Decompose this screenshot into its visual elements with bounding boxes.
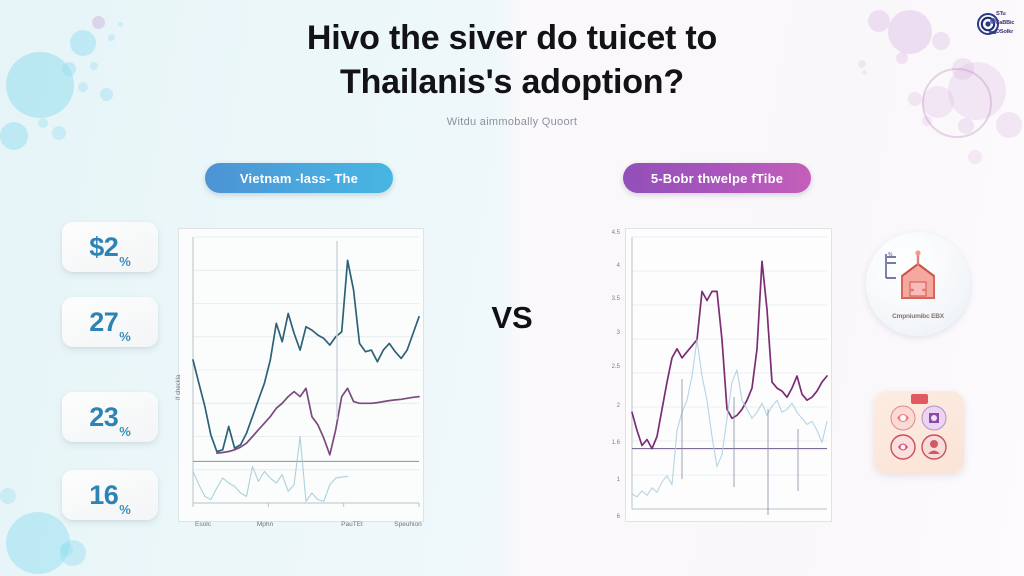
infographic-canvas: STu FaBBic DSolkr Hivo the siver do tuic… [0, 0, 1024, 576]
left-chart-panel[interactable] [178, 228, 424, 522]
left-chart-y-axis-label: If checkla [176, 375, 182, 400]
right-chart-ytick: 4 [604, 263, 620, 269]
svg-text:%: % [888, 252, 893, 258]
stat-card[interactable]: 27 % [62, 297, 158, 347]
left-series-pill[interactable]: Vietnam -lass- The [205, 163, 393, 193]
right-chart-ytick: 6 [604, 514, 620, 520]
logo-text-line2: FaBBic [996, 20, 1014, 26]
logo-text-line3: DSolkr [996, 29, 1013, 35]
left-chart-xtick: Speuhion [381, 521, 435, 528]
left-chart-xtick: PauTEt [325, 521, 379, 528]
page-title-line1: Hivo the siver do tuicet to [212, 16, 812, 60]
stat-unit: % [119, 254, 131, 269]
brand-logo[interactable]: STu FaBBic DSolkr [976, 8, 1020, 42]
right-series-pill[interactable]: 5-Bobr thwelpe fTibe [623, 163, 811, 193]
house-chart-icon: % [866, 232, 970, 336]
right-series-pill-label: 5-Bobr thwelpe fTibe [651, 171, 783, 186]
right-chart-ytick: 2 [604, 403, 620, 409]
page-title-line2: Thailanis's adoption? [212, 60, 812, 104]
right-chart-ytick: 1.6 [604, 440, 620, 446]
left-chart-svg [179, 229, 423, 521]
icon-grid-card[interactable] [874, 391, 964, 473]
stat-unit: % [119, 329, 131, 344]
stat-unit: % [119, 502, 131, 517]
stat-card[interactable]: $2 % [62, 222, 158, 272]
left-series-pill-label: Vietnam -lass- The [240, 171, 358, 186]
stat-card[interactable]: 16 % [62, 470, 158, 520]
left-chart-xtick: Mphn [238, 521, 292, 528]
metric-badge-caption: Cmpniumibc EBX [866, 313, 970, 320]
stat-card[interactable]: 23 % [62, 392, 158, 442]
stat-unit: % [119, 424, 131, 439]
right-chart-ytick: 4.5 [604, 230, 620, 236]
vs-divider-label: VS [478, 300, 546, 336]
logo-text-line1: STu [996, 11, 1006, 17]
four-icons-grid-icon [874, 391, 964, 473]
right-chart-svg [626, 229, 831, 521]
stat-value: 16 [89, 482, 118, 509]
page-subtitle: Witdu aimmobally Quoort [312, 116, 712, 128]
stat-value: $2 [89, 234, 118, 261]
page-title: Hivo the siver do tuicet to Thailanis's … [212, 16, 812, 104]
right-chart-panel[interactable] [625, 228, 832, 522]
stat-value: 23 [89, 404, 118, 431]
metric-badge-circle[interactable]: % Cmpniumibc EBX [866, 232, 970, 336]
right-chart-ytick: 1 [604, 477, 620, 483]
left-chart-xtick: Esolc [176, 521, 230, 528]
right-chart-ytick: 3.5 [604, 296, 620, 302]
stat-value: 27 [89, 309, 118, 336]
right-chart-ytick: 2.5 [604, 364, 620, 370]
right-chart-ytick: 3 [604, 330, 620, 336]
